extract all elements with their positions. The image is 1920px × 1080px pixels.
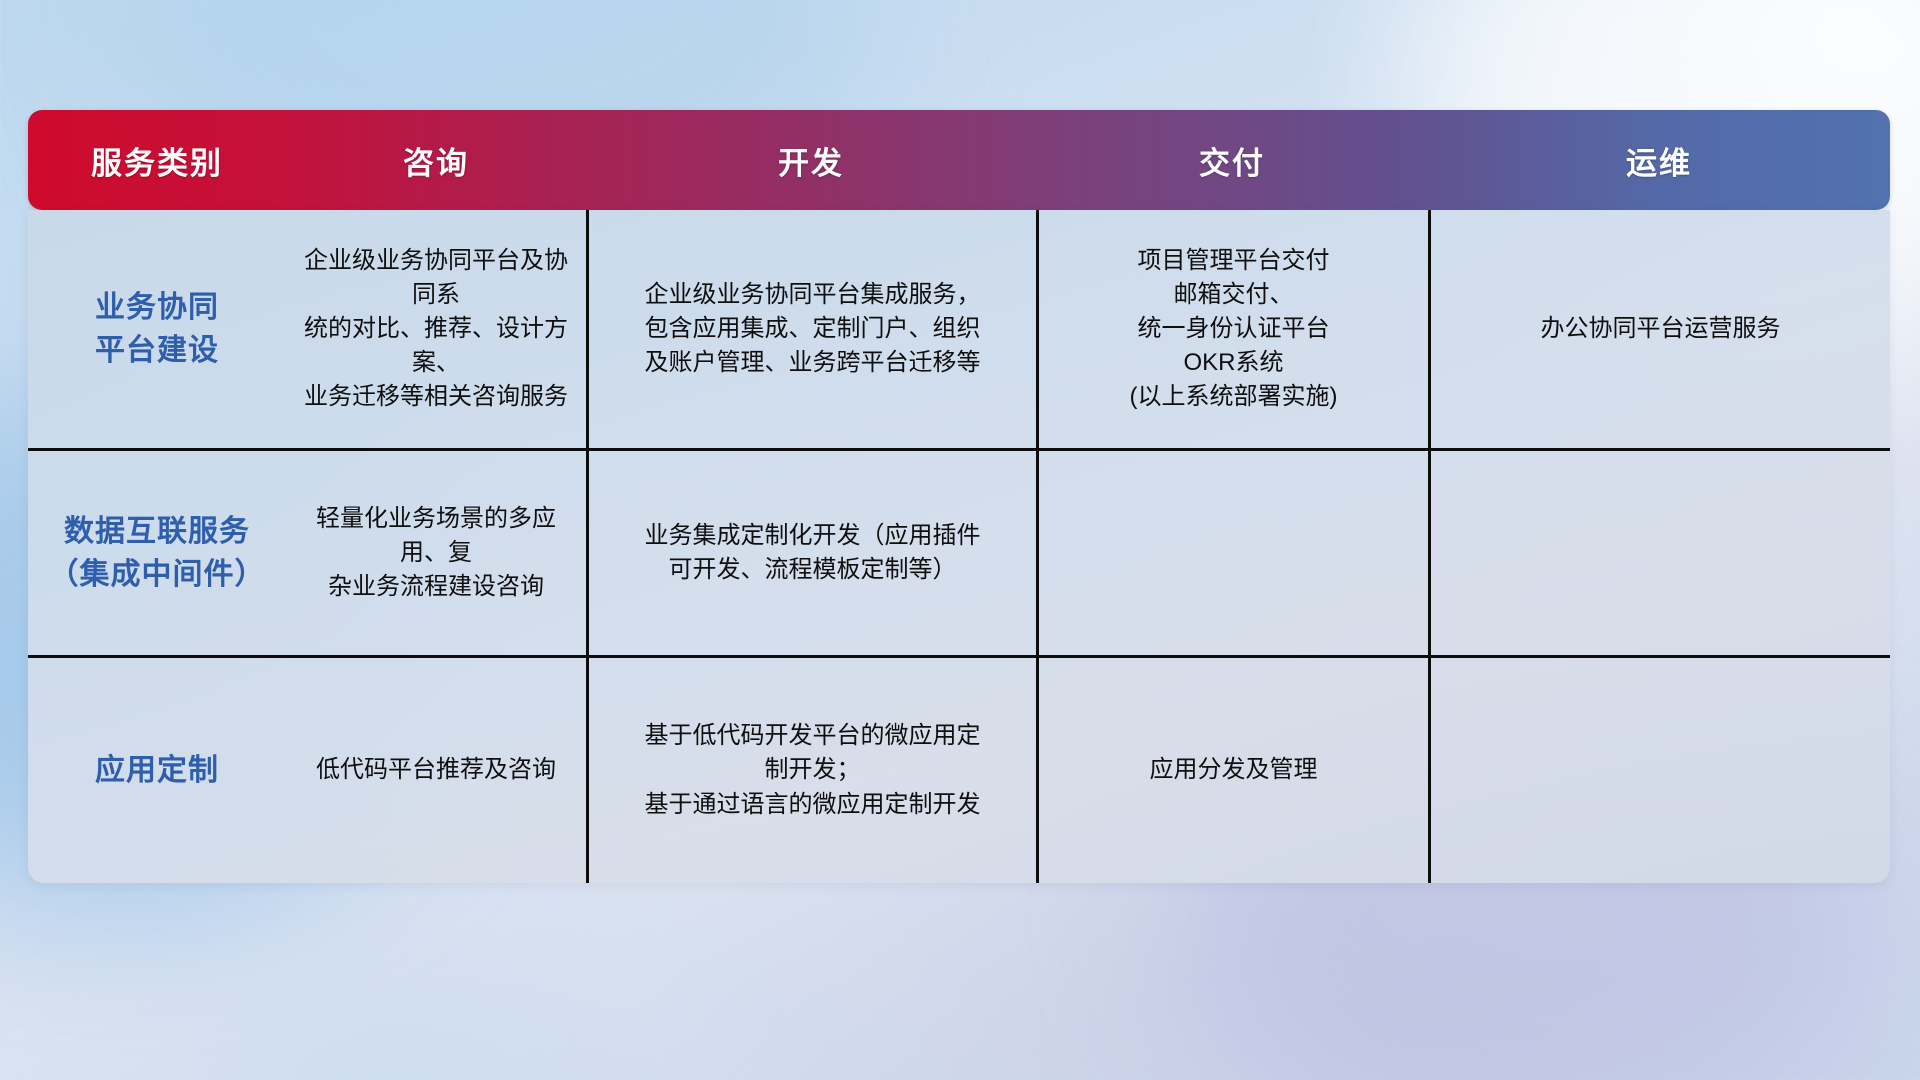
row-label: 应用定制 xyxy=(28,658,286,883)
column-header-development: 开发 xyxy=(586,110,1036,210)
cell-development: 企业级业务协同平台集成服务， 包含应用集成、定制门户、组织 及账户管理、业务跨平… xyxy=(586,210,1036,448)
cell-operations xyxy=(1428,658,1890,883)
slide-canvas: 服务类别 咨询 开发 交付 运维 业务协同 平台建设 企业级业务协同平台及协同系… xyxy=(0,0,1920,1080)
cell-operations: 办公协同平台运营服务 xyxy=(1428,210,1890,448)
service-matrix-table: 服务类别 咨询 开发 交付 运维 业务协同 平台建设 企业级业务协同平台及协同系… xyxy=(28,110,1890,883)
cell-delivery: 应用分发及管理 xyxy=(1036,658,1428,883)
cell-development: 基于低代码开发平台的微应用定 制开发； 基于通过语言的微应用定制开发 xyxy=(586,658,1036,883)
cell-operations xyxy=(1428,451,1890,655)
column-header-category: 服务类别 xyxy=(28,110,286,210)
row-label: 数据互联服务 （集成中间件） xyxy=(28,451,286,655)
table-row: 业务协同 平台建设 企业级业务协同平台及协同系 统的对比、推荐、设计方案、 业务… xyxy=(28,210,1890,448)
column-header-operations: 运维 xyxy=(1428,110,1890,210)
row-label: 业务协同 平台建设 xyxy=(28,210,286,448)
table-row: 数据互联服务 （集成中间件） 轻量化业务场景的多应用、复 杂业务流程建设咨询 业… xyxy=(28,448,1890,655)
column-header-consulting: 咨询 xyxy=(286,110,586,210)
column-header-delivery: 交付 xyxy=(1036,110,1428,210)
table-row: 应用定制 低代码平台推荐及咨询 基于低代码开发平台的微应用定 制开发； 基于通过… xyxy=(28,655,1890,883)
cell-delivery: 项目管理平台交付 邮箱交付、 统一身份认证平台 OKR系统 (以上系统部署实施) xyxy=(1036,210,1428,448)
cell-consulting: 轻量化业务场景的多应用、复 杂业务流程建设咨询 xyxy=(286,451,586,655)
table-body: 业务协同 平台建设 企业级业务协同平台及协同系 统的对比、推荐、设计方案、 业务… xyxy=(28,210,1890,883)
table-header-row: 服务类别 咨询 开发 交付 运维 xyxy=(28,110,1890,210)
cell-delivery xyxy=(1036,451,1428,655)
cell-development: 业务集成定制化开发（应用插件 可开发、流程模板定制等） xyxy=(586,451,1036,655)
cell-consulting: 低代码平台推荐及咨询 xyxy=(286,658,586,883)
cell-consulting: 企业级业务协同平台及协同系 统的对比、推荐、设计方案、 业务迁移等相关咨询服务 xyxy=(286,210,586,448)
